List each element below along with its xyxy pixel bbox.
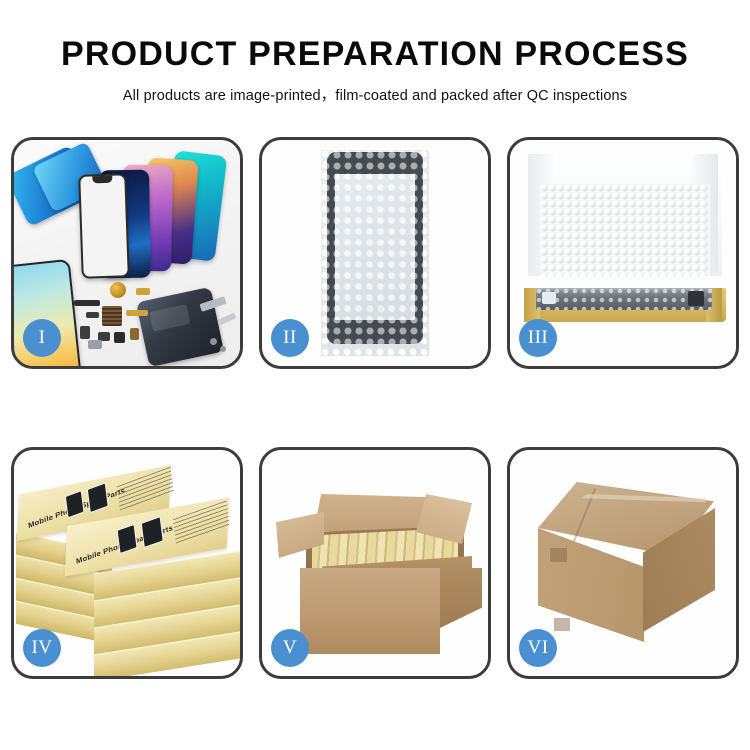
- part-grid-chip: [102, 306, 122, 326]
- step-panel-3[interactable]: III: [507, 137, 739, 369]
- carton-handle-notch-1: [550, 548, 567, 562]
- box-thumbnail-b2: [141, 516, 164, 548]
- phone-glass-panel: [78, 173, 130, 279]
- wrapped-phone-screen: [327, 152, 423, 344]
- step-badge-4: IV: [23, 629, 61, 667]
- step-badge-6: VI: [519, 629, 557, 667]
- part-connector: [74, 300, 100, 306]
- step-badge-3: III: [519, 319, 557, 357]
- foam-padding: [540, 184, 710, 276]
- part-flex-gold: [136, 288, 150, 295]
- part-camera-ring: [110, 282, 126, 298]
- carton-handle-notch-2: [554, 618, 570, 631]
- box-spec-lines-rear: [117, 467, 174, 512]
- step-badge-5: V: [271, 629, 309, 667]
- step-badge-2: II: [271, 319, 309, 357]
- part-small-4: [114, 332, 125, 343]
- step-panel-2[interactable]: II: [259, 137, 491, 369]
- page-title: PRODUCT PREPARATION PROCESS: [0, 36, 750, 73]
- box-thumbnail-a1: [65, 490, 85, 518]
- wrapped-screen-in-box: [536, 288, 712, 310]
- step-panel-5[interactable]: V: [259, 447, 491, 679]
- page-subtitle: All products are image-printed，film-coat…: [0, 84, 750, 105]
- box-thumbnail-a2: [87, 482, 109, 513]
- part-sim-tray: [88, 340, 102, 349]
- steps-grid: I II: [11, 137, 739, 679]
- phone-motherboard: [136, 287, 224, 366]
- part-small-5: [130, 328, 139, 340]
- step-panel-1[interactable]: I: [11, 137, 243, 369]
- box-thumbnail-b1: [117, 524, 138, 554]
- part-small-1: [86, 312, 99, 318]
- part-flex-cable: [126, 310, 148, 316]
- part-small-2: [80, 326, 90, 339]
- product-preparation-infographic: PRODUCT PREPARATION PROCESS All products…: [0, 0, 750, 750]
- carton-front-panel: [300, 568, 440, 654]
- part-screw-2: [220, 346, 226, 352]
- step-panel-6[interactable]: VI: [507, 447, 739, 679]
- header: PRODUCT PREPARATION PROCESS All products…: [0, 36, 750, 105]
- step-badge-1: I: [23, 319, 61, 357]
- part-screw-1: [210, 338, 217, 345]
- home-button: [363, 306, 387, 315]
- box-spec-lines-front: [173, 500, 230, 544]
- step-panel-4[interactable]: Mobile Phone Spare Parts Mobile Phone Sp…: [11, 447, 243, 679]
